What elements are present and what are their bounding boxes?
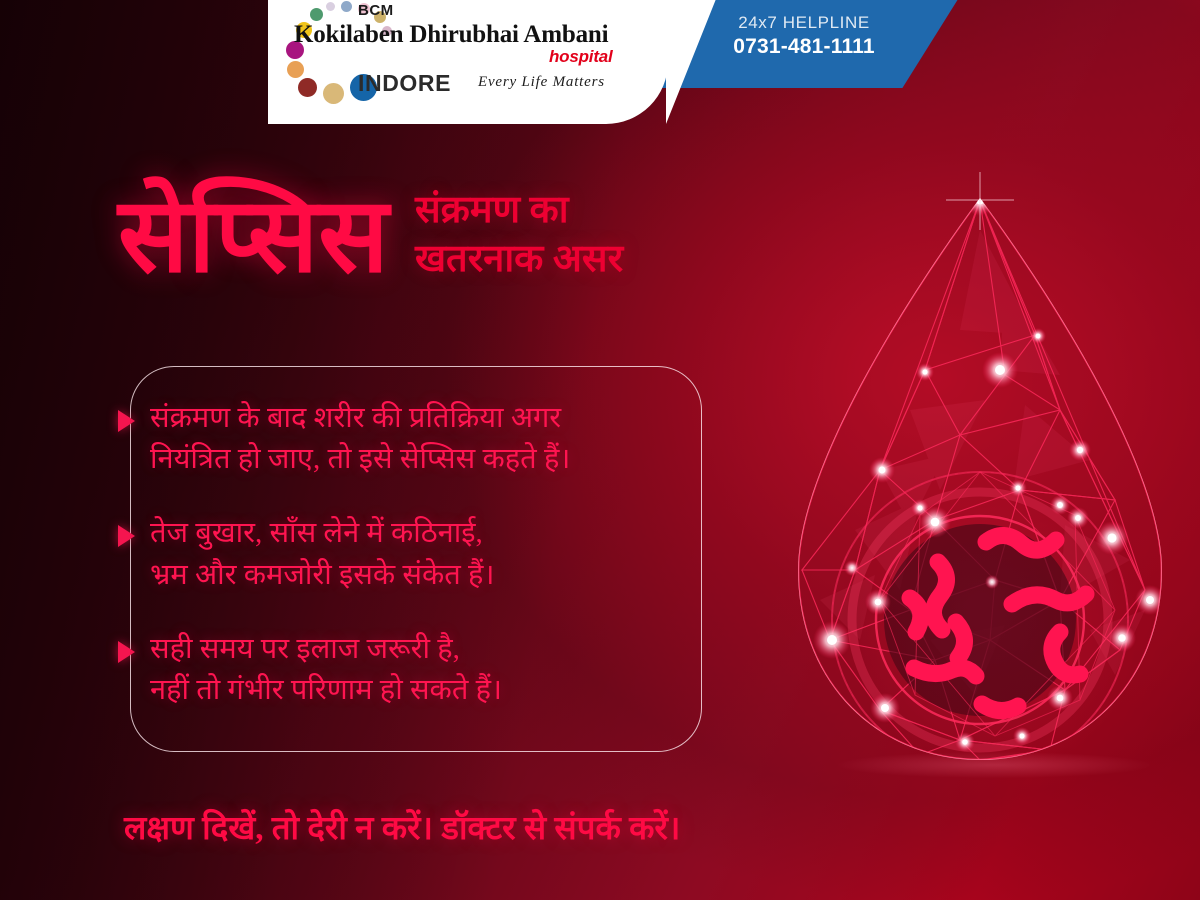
poster-subtitle: संक्रमण का खतरनाक असर bbox=[415, 186, 623, 283]
arrow-bullet-icon bbox=[118, 641, 135, 663]
list-item-text: संक्रमण के बाद शरीर की प्रतिक्रिया अगर न… bbox=[150, 398, 750, 480]
call-to-action-text: लक्षण दिखें, तो देरी न करें। डॉक्टर से स… bbox=[124, 804, 680, 849]
hospital-tagline: Every Life Matters bbox=[478, 74, 605, 91]
poster-subtitle-line-1: संक्रमण का bbox=[415, 189, 569, 231]
poster-subtitle-line-2: खतरनाक असर bbox=[415, 238, 623, 280]
bcm-label: BCM bbox=[358, 2, 394, 19]
hospital-logo-header: BCM Kokilaben Dhirubhai Ambani hospital … bbox=[268, 0, 668, 124]
list-item-text: सही समय पर इलाज जरूरी है, नहीं तो गंभीर … bbox=[150, 629, 750, 711]
list-item: संक्रमण के बाद शरीर की प्रतिक्रिया अगर न… bbox=[150, 398, 750, 480]
sepsis-awareness-poster: 24x7 HELPLINE 0731-481-1111 BCM Kokilabe… bbox=[0, 0, 1200, 900]
list-item: तेज बुखार, साँस लेने में कठिनाई, भ्रम और… bbox=[150, 513, 750, 595]
hospital-logo: BCM Kokilaben Dhirubhai Ambani hospital … bbox=[268, 0, 668, 110]
arrow-bullet-icon bbox=[118, 525, 135, 547]
hospital-word: hospital bbox=[549, 47, 613, 67]
arrow-bullet-icon bbox=[118, 410, 135, 432]
hospital-city: INDORE bbox=[358, 70, 451, 97]
hospital-name: Kokilaben Dhirubhai Ambani bbox=[294, 21, 654, 49]
key-points-list: संक्रमण के बाद शरीर की प्रतिक्रिया अगर न… bbox=[150, 398, 750, 711]
list-item: सही समय पर इलाज जरूरी है, नहीं तो गंभीर … bbox=[150, 629, 750, 711]
list-item-text: तेज बुखार, साँस लेने में कठिनाई, भ्रम और… bbox=[150, 513, 750, 595]
poster-title: सेप्सिस bbox=[118, 188, 389, 287]
poster-title-block: सेप्सिस संक्रमण का खतरनाक असर bbox=[118, 186, 878, 289]
